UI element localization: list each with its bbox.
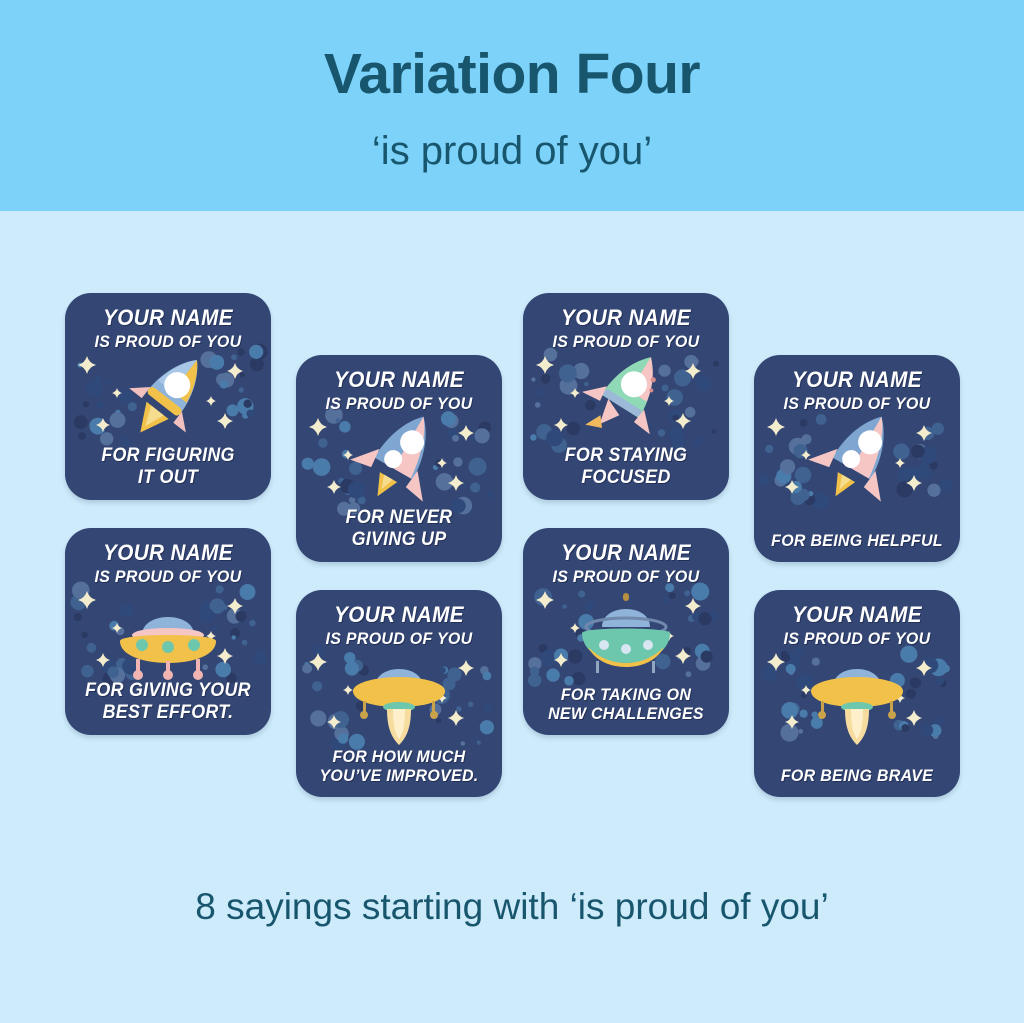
card-name-line: YOUR NAME [308,604,490,626]
card-heading: YOUR NAME IS PROUD OF YOU [523,542,729,587]
card-reason-line-2: YOU’VE IMPROVED. [308,766,490,785]
ufo-icon [566,577,686,687]
sticker-card-5[interactable]: YOUR NAME IS PROUD OF YOU FOR GIVING YOU… [65,528,271,735]
card-reason-line-1: FOR BEING HELPFUL [766,531,948,550]
ufo-icon [339,639,459,749]
sticker-card-2[interactable]: YOUR NAME IS PROUD OF YOU FOR NEVER GIVI… [296,355,502,562]
card-reason-line-1: FOR STAYING [535,445,717,466]
card-heading: YOUR NAME IS PROUD OF YOU [754,604,960,649]
card-heading: YOUR NAME IS PROUD OF YOU [296,604,502,649]
rocket-icon [797,404,917,514]
card-reason-line-1: FOR FIGURING [77,445,259,466]
card-phrase-line: IS PROUD OF YOU [535,567,717,587]
card-heading: YOUR NAME IS PROUD OF YOU [65,307,271,352]
card-reason-line-2: GIVING UP [308,529,490,550]
card-reason-line-2: FOCUSED [535,467,717,488]
rocket-icon [566,342,686,452]
rocket-icon [108,342,228,452]
card-reason-line-1: FOR NEVER [308,507,490,528]
card-reason-line-2: BEST EFFORT. [77,702,259,723]
card-reason: FOR FIGURING IT OUT [65,445,271,488]
card-reason: FOR TAKING ON NEW CHALLENGES [523,685,729,723]
card-reason: FOR BEING BRAVE [754,766,960,785]
card-reason: FOR BEING HELPFUL [754,531,960,550]
ufo-icon [108,577,228,687]
poster-canvas: Variation Four ‘is proud of you’ YOUR NA… [0,0,1024,1023]
card-reason-line-1: FOR BEING BRAVE [766,766,948,785]
rocket-icon [339,404,459,514]
card-reason-line-2: IT OUT [77,467,259,488]
sticker-card-1[interactable]: YOUR NAME IS PROUD OF YOU FOR FIGURING I… [65,293,271,500]
card-name-line: YOUR NAME [535,542,717,564]
sticker-card-6[interactable]: YOUR NAME IS PROUD OF YOU FOR HOW MUCH Y… [296,590,502,797]
sticker-card-8[interactable]: YOUR NAME IS PROUD OF YOU FOR BEING BRAV… [754,590,960,797]
card-name-line: YOUR NAME [766,369,948,391]
card-name-line: YOUR NAME [77,542,259,564]
card-name-line: YOUR NAME [535,307,717,329]
sticker-card-4[interactable]: YOUR NAME IS PROUD OF YOU FOR BEING HELP… [754,355,960,562]
card-reason: FOR NEVER GIVING UP [296,507,502,550]
card-phrase-line: IS PROUD OF YOU [535,332,717,352]
card-phrase-line: IS PROUD OF YOU [766,629,948,649]
card-reason: FOR HOW MUCH YOU’VE IMPROVED. [296,747,502,785]
card-name-line: YOUR NAME [766,604,948,626]
card-reason-line-1: FOR GIVING YOUR [77,680,259,701]
card-phrase-line: IS PROUD OF YOU [77,332,259,352]
card-phrase-line: IS PROUD OF YOU [77,567,259,587]
card-phrase-line: IS PROUD OF YOU [308,629,490,649]
card-heading: YOUR NAME IS PROUD OF YOU [65,542,271,587]
card-reason: FOR GIVING YOUR BEST EFFORT. [65,680,271,723]
card-reason: FOR STAYING FOCUSED [523,445,729,488]
header-band: Variation Four ‘is proud of you’ [0,0,1024,211]
sticker-card-7[interactable]: YOUR NAME IS PROUD OF YOU FOR TAKING ON … [523,528,729,735]
ufo-icon [797,639,917,749]
card-phrase-line: IS PROUD OF YOU [766,394,948,414]
card-name-line: YOUR NAME [77,307,259,329]
page-title: Variation Four [0,45,1024,105]
card-phrase-line: IS PROUD OF YOU [308,394,490,414]
card-name-line: YOUR NAME [308,369,490,391]
card-heading: YOUR NAME IS PROUD OF YOU [523,307,729,352]
footer-caption: 8 sayings starting with ‘is proud of you… [0,886,1024,928]
card-heading: YOUR NAME IS PROUD OF YOU [754,369,960,414]
page-subtitle: ‘is proud of you’ [0,129,1024,173]
sticker-card-3[interactable]: YOUR NAME IS PROUD OF YOU FOR STAYING FO… [523,293,729,500]
card-heading: YOUR NAME IS PROUD OF YOU [296,369,502,414]
card-reason-line-2: NEW CHALLENGES [535,704,717,723]
card-reason-line-1: FOR HOW MUCH [308,747,490,766]
card-reason-line-1: FOR TAKING ON [535,685,717,704]
